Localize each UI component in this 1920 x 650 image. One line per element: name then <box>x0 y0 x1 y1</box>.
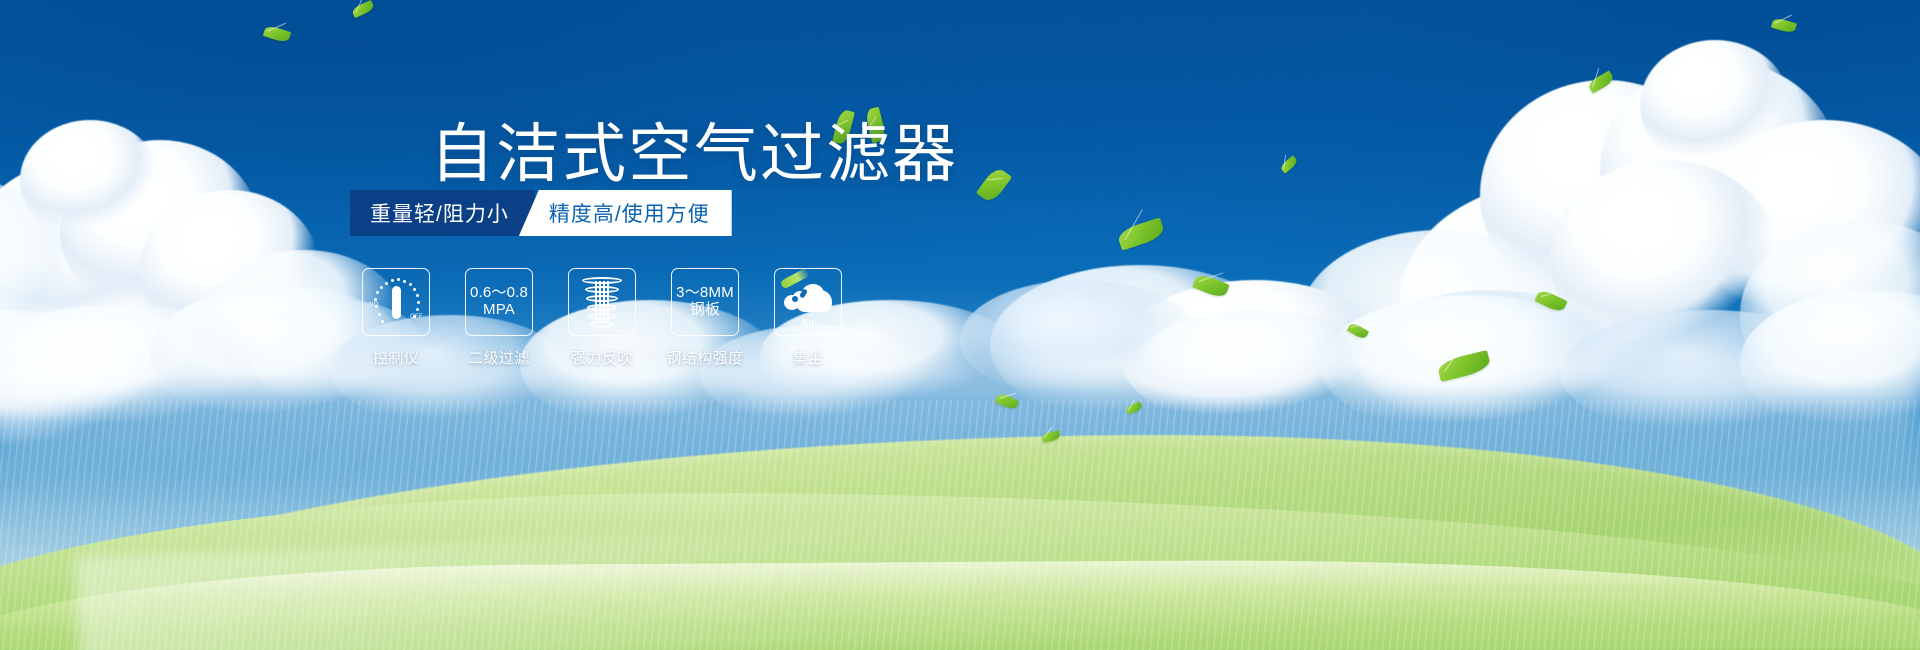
dial-label-no: NO <box>369 302 379 308</box>
feature-caption: 钢结构强度 <box>666 347 744 368</box>
banner-stage: 自洁式空气过滤器 重量轻/阻力小 精度高/使用方便 <box>0 0 1920 650</box>
feature-item: 强力反吹 <box>562 268 642 368</box>
pressure-text-icon: 0.6～0.8 <box>470 285 528 302</box>
feature-item: 3～8MM 钢板 钢结构强度 <box>665 268 745 368</box>
feature-item: Air 集尘 <box>768 268 848 368</box>
dial-label-off: OFF <box>410 314 423 320</box>
banner-content: 自洁式空气过滤器 重量轻/阻力小 精度高/使用方便 <box>0 0 1920 650</box>
tag-primary: 重量轻/阻力小 <box>350 190 535 236</box>
feature-icon-box: 3～8MM 钢板 <box>671 268 739 336</box>
air-cloud-icon <box>782 276 834 316</box>
dial-needle <box>392 286 401 319</box>
feature-caption: 集尘 <box>792 347 823 368</box>
tag-bar: 重量轻/阻力小 精度高/使用方便 <box>350 190 732 236</box>
steel-plate-text-icon: 3～8MM <box>676 285 734 302</box>
steel-plate-unit-text: 钢板 <box>690 302 720 319</box>
feature-item: 0.6～0.8 MPA 二级过滤 <box>459 268 539 368</box>
page-title: 自洁式空气过滤器 <box>430 122 958 186</box>
feature-icon-box: NO OFF <box>362 268 430 336</box>
feature-caption: 强力反吹 <box>571 347 633 368</box>
feature-caption: 控制仪 <box>373 347 420 368</box>
control-dial-icon: NO OFF <box>370 277 422 327</box>
tag-secondary: 精度高/使用方便 <box>519 190 732 236</box>
feature-icon-box: Air <box>774 268 842 336</box>
feature-item: NO OFF 控制仪 <box>356 268 436 368</box>
air-label: Air <box>801 317 816 329</box>
pressure-unit-text: MPA <box>483 302 515 319</box>
feature-icon-box: 0.6～0.8 MPA <box>465 268 533 336</box>
coil-filter-icon <box>580 277 624 327</box>
feature-list: NO OFF 控制仪 0.6～0.8 MPA 二级过滤 <box>356 268 848 368</box>
feature-caption: 二级过滤 <box>468 347 530 368</box>
feature-icon-box <box>568 268 636 336</box>
